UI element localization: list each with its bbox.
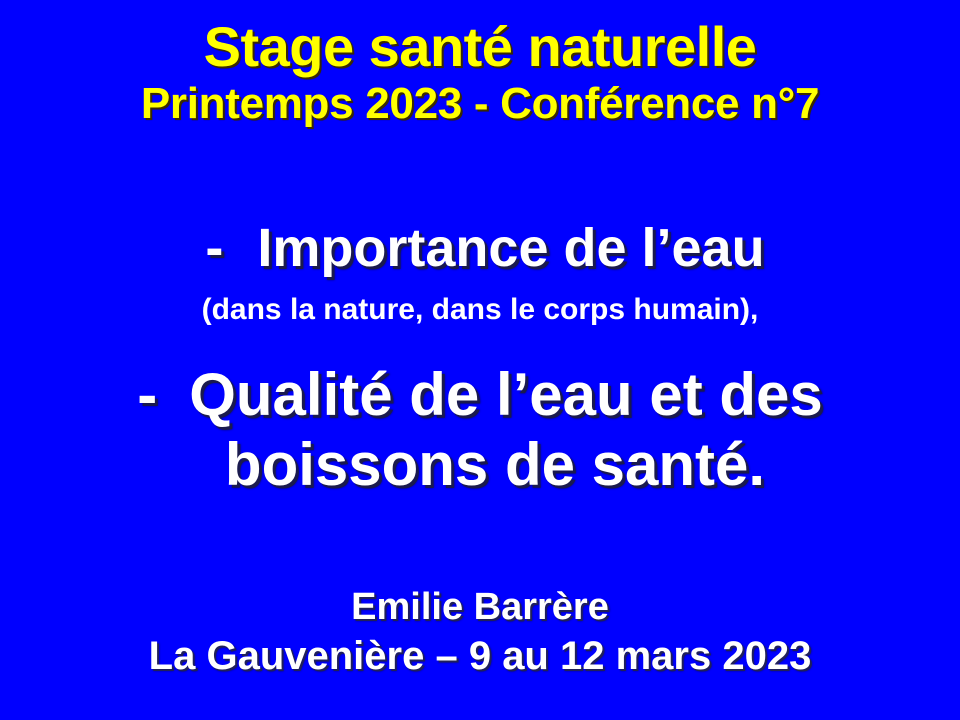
bullet-item-1-note: (dans la nature, dans le corps humain), xyxy=(0,290,960,330)
bullet-item-2: -Qualité de l’eau et des xyxy=(0,360,960,430)
bullet-item-2-text: Qualité de l’eau et des xyxy=(189,361,823,428)
slide-body-block: -Importance de l’eau (dans la nature, da… xyxy=(0,216,960,500)
place-and-date: La Gauvenière – 9 au 12 mars 2023 xyxy=(0,631,960,681)
slide-title-block: Stage santé naturelle Printemps 2023 - C… xyxy=(0,16,960,130)
bullet-dash-icon-1: - xyxy=(205,216,223,280)
slide-title-line-1: Stage santé naturelle xyxy=(0,16,960,78)
bullet-item-1: -Importance de l’eau xyxy=(0,216,960,280)
presentation-slide: Stage santé naturelle Printemps 2023 - C… xyxy=(0,0,960,720)
body-spacer xyxy=(0,330,960,360)
presenter-name: Emilie Barrère xyxy=(0,583,960,631)
slide-footer-block: Emilie Barrère La Gauvenière – 9 au 12 m… xyxy=(0,583,960,681)
bullet-item-1-text: Importance de l’eau xyxy=(257,218,764,278)
slide-subtitle-line: Printemps 2023 - Conférence n°7 xyxy=(0,78,960,130)
bullet-dash-icon-2: - xyxy=(137,360,157,430)
bullet-item-2-continuation: boissons de santé. xyxy=(0,430,960,500)
